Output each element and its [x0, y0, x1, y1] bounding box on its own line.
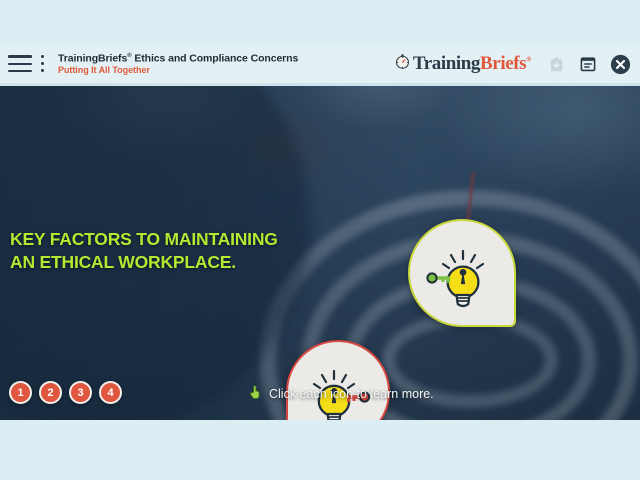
- course-title: TrainingBriefs® Ethics and Compliance Co…: [58, 53, 298, 65]
- hotspot-pin-top[interactable]: [408, 219, 516, 341]
- headline-line-1: KEY FACTORS TO MAINTAINING: [10, 228, 278, 251]
- header-right-group: TrainingBriefs®: [394, 53, 640, 75]
- step-button-1[interactable]: 1: [9, 381, 32, 404]
- course-title-brand: TrainingBriefs: [58, 52, 127, 64]
- step-button-3[interactable]: 3: [69, 381, 92, 404]
- course-subtitle: Putting It All Together: [58, 65, 298, 75]
- notes-icon[interactable]: [577, 53, 599, 75]
- hamburger-icon[interactable]: [8, 55, 32, 72]
- instruction-hint-text: Click each icon to learn more.: [269, 387, 434, 401]
- step-button-2[interactable]: 2: [39, 381, 62, 404]
- logo-word-briefs: Briefs: [480, 53, 526, 74]
- header-titles: TrainingBriefs® Ethics and Compliance Co…: [58, 53, 298, 75]
- slide-stage: KEY FACTORS TO MAINTAINING AN ETHICAL WO…: [0, 86, 640, 420]
- player-header: TrainingBriefs® Ethics and Compliance Co…: [0, 45, 640, 83]
- header-left-group: TrainingBriefs® Ethics and Compliance Co…: [0, 53, 298, 75]
- close-icon[interactable]: [609, 53, 631, 75]
- step-navigation: 1 2 3 4: [9, 381, 122, 404]
- instruction-hint: Click each icon to learn more.: [248, 384, 434, 403]
- course-title-rest: Ethics and Compliance Concerns: [132, 52, 299, 64]
- headline-line-2: AN ETHICAL WORKPLACE.: [10, 251, 278, 274]
- hotspot-pin-bottom[interactable]: [286, 340, 390, 420]
- pointing-hand-icon: [248, 384, 263, 403]
- download-icon[interactable]: [545, 53, 567, 75]
- trainingbriefs-logo: TrainingBriefs®: [394, 53, 531, 75]
- logo-word-training: Training: [413, 53, 480, 74]
- course-player: TrainingBriefs® Ethics and Compliance Co…: [0, 0, 640, 480]
- step-button-4[interactable]: 4: [99, 381, 122, 404]
- logo-wordmark: TrainingBriefs®: [413, 53, 531, 75]
- stopwatch-icon: [394, 53, 411, 75]
- kebab-menu-icon[interactable]: [35, 55, 49, 72]
- logo-registered-mark: ®: [526, 56, 531, 64]
- page-title: KEY FACTORS TO MAINTAINING AN ETHICAL WO…: [10, 228, 278, 275]
